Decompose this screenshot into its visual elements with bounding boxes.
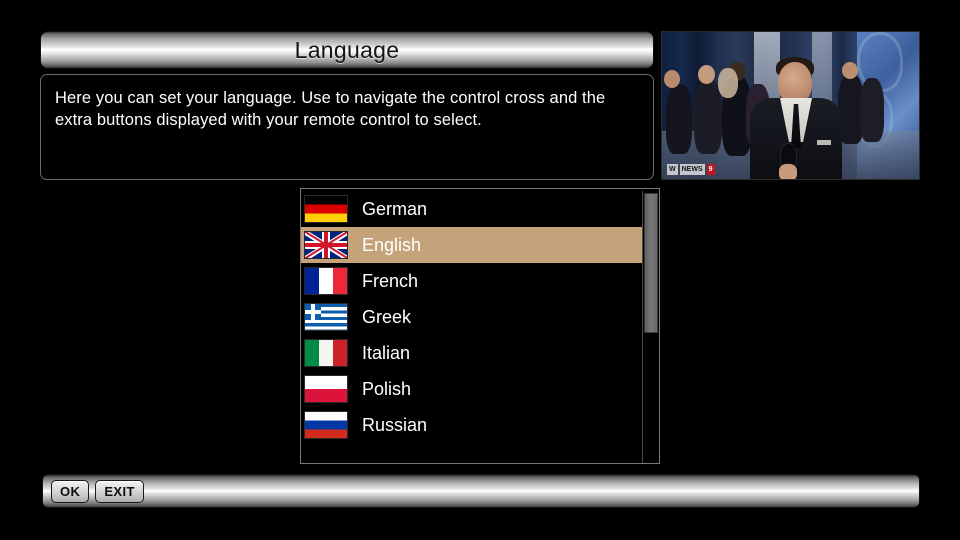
channel-watermark: W NEWS 9 xyxy=(667,164,715,175)
language-item-italian[interactable]: Italian xyxy=(301,335,643,371)
description-text: Here you can set your language. Use to n… xyxy=(55,87,639,131)
flag-poland-icon xyxy=(304,375,348,403)
language-list-panel: German English French Greek Ital xyxy=(300,188,660,464)
language-item-french[interactable]: French xyxy=(301,263,643,299)
reporter-pocket-square xyxy=(817,140,831,145)
language-label: English xyxy=(362,235,421,256)
language-label: Polish xyxy=(362,379,411,400)
page-title: Language xyxy=(295,37,400,64)
channel-watermark-part: 9 xyxy=(707,164,715,175)
language-item-greek[interactable]: Greek xyxy=(301,299,643,335)
language-label: Greek xyxy=(362,307,411,328)
language-label: French xyxy=(362,271,418,292)
flag-germany-icon xyxy=(304,195,348,223)
exit-button[interactable]: EXIT xyxy=(95,480,144,503)
flag-russia-icon xyxy=(304,411,348,439)
ok-button[interactable]: OK xyxy=(51,480,89,503)
description-panel: Here you can set your language. Use to n… xyxy=(40,74,654,180)
page-title-bar: Language xyxy=(40,31,654,69)
language-item-german[interactable]: German xyxy=(301,191,643,227)
video-crowd-figure xyxy=(860,78,884,142)
video-crowd-head xyxy=(664,70,680,88)
video-crowd-head xyxy=(842,62,858,79)
list-scrollbar[interactable] xyxy=(642,191,658,463)
language-item-english[interactable]: English xyxy=(301,227,643,263)
flag-italy-icon xyxy=(304,339,348,367)
flag-united-kingdom-icon xyxy=(304,231,348,259)
language-label: Italian xyxy=(362,343,410,364)
video-crowd-figure xyxy=(666,84,692,154)
flag-france-icon xyxy=(304,267,348,295)
reporter-hand xyxy=(779,164,797,180)
video-crowd-hair xyxy=(718,68,738,98)
softkey-bar: OK EXIT xyxy=(42,474,920,508)
language-label: Russian xyxy=(362,415,427,436)
language-list: German English French Greek Ital xyxy=(301,191,643,443)
video-crowd-head xyxy=(698,65,715,84)
video-preview[interactable]: W NEWS 9 xyxy=(661,31,920,180)
channel-watermark-part: NEWS xyxy=(680,164,705,175)
channel-watermark-part: W xyxy=(667,164,678,175)
scrollbar-thumb[interactable] xyxy=(644,193,658,333)
language-item-polish[interactable]: Polish xyxy=(301,371,643,407)
language-label: German xyxy=(362,199,427,220)
video-pillar-right xyxy=(812,32,832,102)
flag-greece-icon xyxy=(304,303,348,331)
osd-screen: Language Here you can set your language.… xyxy=(0,0,960,540)
language-item-russian[interactable]: Russian xyxy=(301,407,643,443)
video-crowd-figure xyxy=(694,80,722,154)
